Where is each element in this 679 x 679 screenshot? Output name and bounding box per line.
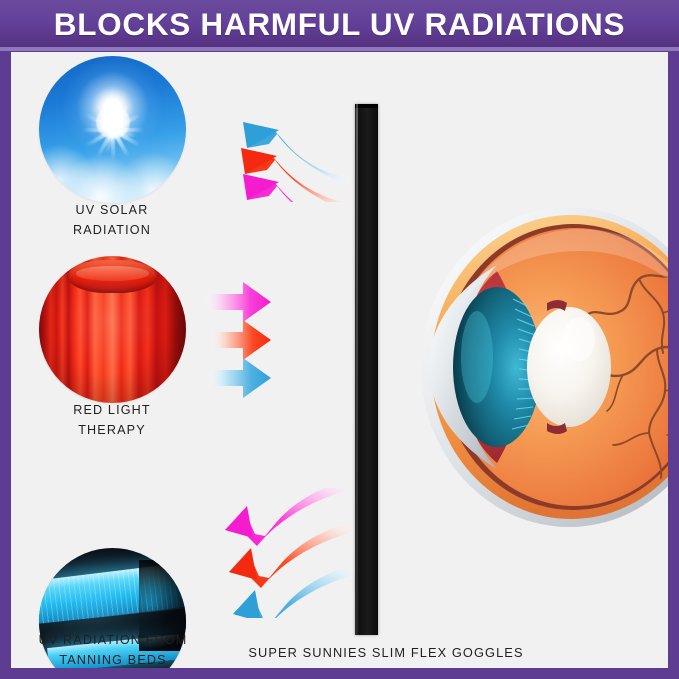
header-divider: [0, 47, 679, 51]
content-panel: UV SOLAR RADIATION RED LIGHT THERAPY UV …: [11, 52, 668, 668]
reflected-rays-bottom-group: [201, 488, 356, 618]
barrier-highlight: [356, 104, 358, 635]
goggle-lens-barrier: [355, 104, 378, 635]
straight-arrows-right-svg: [201, 280, 351, 400]
uv-solar-radiation-image: [39, 56, 186, 203]
barrier-top-cap: [355, 104, 378, 108]
arrow-magenta: [203, 282, 271, 322]
sun-rays-group: [39, 56, 186, 195]
reflected-arrows-down-svg: [201, 488, 356, 618]
reflected-rays-top-group: [203, 82, 353, 202]
arrow-red: [209, 320, 271, 360]
red-light-therapy-label: RED LIGHT THERAPY: [17, 400, 207, 440]
header-banner: BLOCKS HARMFUL UV RADIATIONS: [0, 0, 679, 49]
arrow-blue: [205, 358, 271, 398]
eye-anatomy-svg: [401, 207, 668, 527]
caption-line-1: UV RADIATION FROM: [13, 630, 213, 650]
page-title: BLOCKS HARMFUL UV RADIATIONS: [54, 6, 625, 43]
caption-line-2: RADIATION: [17, 220, 207, 240]
lens-highlight: [563, 317, 595, 361]
tanning-bed-label: UV RADIATION FROM TANNING BEDS: [13, 630, 213, 668]
booth-shading: [39, 256, 186, 403]
uv-solar-radiation-label: UV SOLAR RADIATION: [17, 200, 207, 240]
caption-line-2: THERAPY: [17, 420, 207, 440]
reflected-arrows-up-svg: [203, 82, 353, 202]
product-caption: SUPER SUNNIES SLIM FLEX GOGGLES: [201, 645, 571, 660]
caption-line-1: UV SOLAR: [17, 200, 207, 220]
infographic-root: BLOCKS HARMFUL UV RADIATIONS UV SOLAR RA…: [0, 0, 679, 679]
sun-core-icon: [96, 105, 130, 139]
incoming-rays-middle-group: [201, 280, 351, 400]
caption-line-1: RED LIGHT: [17, 400, 207, 420]
red-light-therapy-image: [39, 256, 186, 403]
caption-line-2: TANNING BEDS: [13, 650, 213, 668]
iris-highlight: [461, 311, 493, 403]
eye-cross-section-anatomy-illustration: [401, 207, 668, 527]
